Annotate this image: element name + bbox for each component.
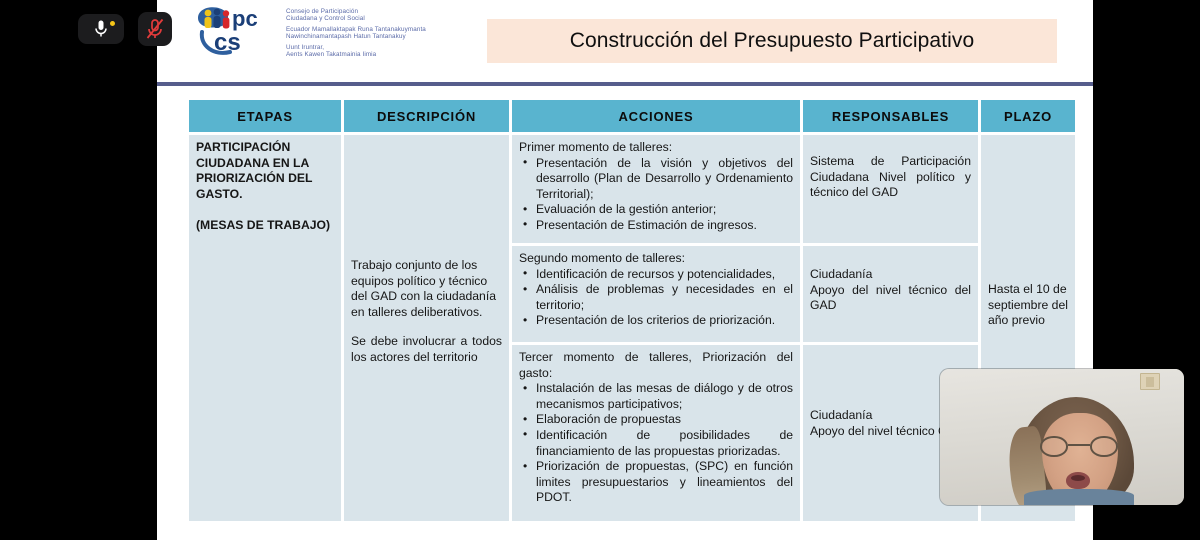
cell-acciones-1: Primer momento de talleres: Presentación… — [512, 135, 800, 243]
acciones-lead-3: Tercer momento de talleres, Priorización… — [519, 350, 793, 381]
person-shirt — [1024, 489, 1134, 505]
cell-responsables-2: Ciudadanía Apoyo del nivel técnico del G… — [803, 246, 978, 342]
descripcion-paragraph-1: Trabajo conjunto de los equipos político… — [351, 258, 502, 320]
acciones-list-3: Instalación de las mesas de diálogo y de… — [519, 381, 793, 506]
microphone-mute-button[interactable] — [138, 12, 172, 46]
etapa-subtitle: (MESAS DE TRABAJO) — [196, 218, 334, 234]
acciones-item: Elaboración de propuestas — [519, 412, 793, 428]
logo-line-3: Ecuador Mamallaktapak Runa Tantanakuyman… — [286, 26, 426, 33]
slide-header: pc cs Consejo de Participación Ciudadana… — [157, 0, 1093, 82]
slide-title-band: Construcción del Presupuesto Participati… — [487, 19, 1057, 63]
acciones-list-2: Identificación de recursos y potencialid… — [519, 267, 793, 329]
microphone-icon — [94, 19, 108, 39]
cell-descripcion: Trabajo conjunto de los equipos político… — [344, 135, 509, 521]
person-mouth — [1066, 472, 1090, 489]
acciones-item: Presentación de la visión y objetivos de… — [519, 156, 793, 203]
etapa-title: PARTICIPACIÓN CIUDADANA EN LA PRIORIZACI… — [196, 140, 334, 202]
cell-etapa: PARTICIPACIÓN CIUDADANA EN LA PRIORIZACI… — [189, 135, 341, 521]
participant-video-tile[interactable] — [940, 369, 1184, 505]
acciones-item: Presentación de Estimación de ingresos. — [519, 218, 793, 234]
cell-acciones-3: Tercer momento de talleres, Priorización… — [512, 345, 800, 521]
responsables-line-2: Apoyo del nivel técnico del GAD — [810, 283, 971, 314]
column-header-descripcion: DESCRIPCIÓN — [344, 100, 509, 132]
organization-logo-text: Consejo de Participación Ciudadana y Con… — [286, 8, 426, 58]
descripcion-paragraph-2: Se debe involucrar a todos los actores d… — [351, 334, 502, 365]
wall-switch — [1140, 373, 1160, 390]
acciones-lead-2: Segundo momento de talleres: — [519, 251, 793, 267]
meeting-screen: pc cs Consejo de Participación Ciudadana… — [0, 0, 1200, 540]
acciones-lead-1: Primer momento de talleres: — [519, 140, 793, 156]
eyeglasses-right-lens — [1090, 436, 1118, 457]
logo-line-1: Consejo de Participación — [286, 8, 358, 15]
logo-line-4: Nawinchinamantapash Hatun Tantanakuy — [286, 33, 406, 40]
acciones-item: Presentación de los criterios de prioriz… — [519, 313, 793, 329]
microphone-muted-icon — [145, 18, 165, 40]
microphone-status-dot — [110, 21, 115, 26]
plazo-text: Hasta el 10 de septiembre del año previo — [988, 282, 1068, 329]
responsables-text-1: Sistema de Participación Ciudadana Nivel… — [810, 154, 971, 201]
column-header-plazo: PLAZO — [981, 100, 1075, 132]
organization-logo: pc cs Consejo de Participación Ciudadana… — [192, 2, 426, 64]
cell-responsables-1: Sistema de Participación Ciudadana Nivel… — [803, 135, 978, 243]
cpccs-logo-icon: pc cs — [192, 2, 284, 64]
acciones-item: Identificación de recursos y potencialid… — [519, 267, 793, 283]
logo-line-6: Aents Kawen Takatmainia Iimia — [286, 51, 376, 58]
cell-acciones-2: Segundo momento de talleres: Identificac… — [512, 246, 800, 342]
microphone-button[interactable] — [78, 14, 124, 44]
acciones-item: Identificación de posibilidades de finan… — [519, 428, 793, 459]
column-header-acciones: ACCIONES — [512, 100, 800, 132]
table-header-row: ETAPAS DESCRIPCIÓN ACCIONES RESPONSABLES… — [189, 100, 1075, 132]
svg-text:pc: pc — [232, 6, 258, 31]
acciones-item: Instalación de las mesas de diálogo y de… — [519, 381, 793, 412]
meeting-toolbar — [78, 12, 172, 46]
eyeglasses-bridge — [1068, 444, 1090, 446]
slide-title: Construcción del Presupuesto Participati… — [570, 29, 975, 53]
responsables-line-1: Ciudadanía — [810, 267, 971, 283]
acciones-item: Análisis de problemas y necesidades en e… — [519, 282, 793, 313]
logo-line-5: Uunt Iruntrar, — [286, 44, 324, 51]
table-row: PARTICIPACIÓN CIUDADANA EN LA PRIORIZACI… — [189, 135, 1075, 243]
eyeglasses-left-lens — [1040, 436, 1068, 457]
acciones-list-1: Presentación de la visión y objetivos de… — [519, 156, 793, 234]
column-header-responsables: RESPONSABLES — [803, 100, 978, 132]
acciones-item: Evaluación de la gestión anterior; — [519, 202, 793, 218]
column-header-etapas: ETAPAS — [189, 100, 341, 132]
logo-line-2: Ciudadana y Control Social — [286, 15, 365, 22]
acciones-item: Priorización de propuestas, (SPC) en fun… — [519, 459, 793, 506]
